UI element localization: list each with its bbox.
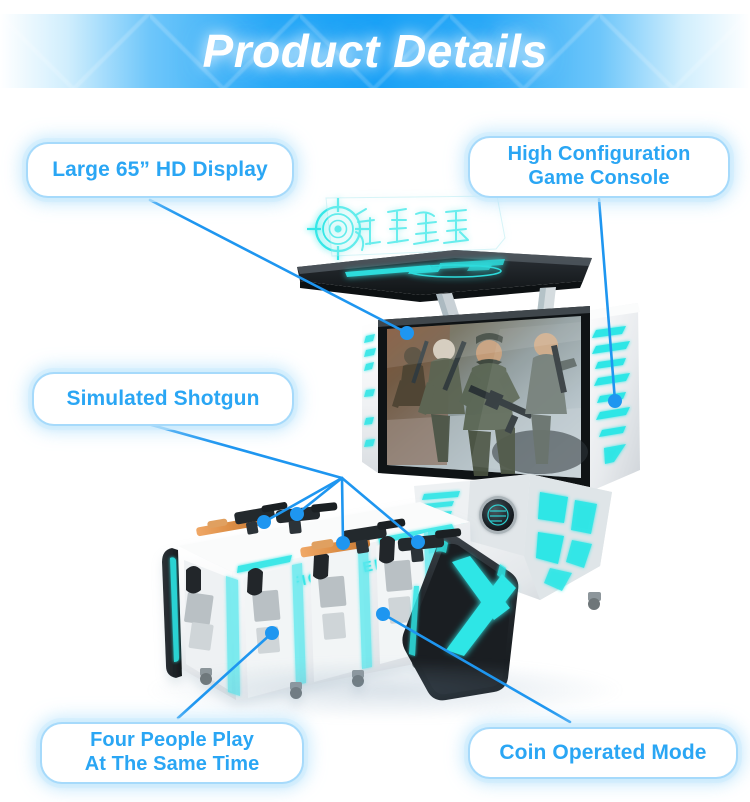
callout-label-coin: Coin Operated Mode — [499, 741, 706, 766]
display-cabinet — [362, 303, 640, 492]
callout-four-people-play[interactable]: Four People Play At The Same Time — [40, 722, 304, 784]
callout-label-fourplay: Four People Play At The Same Time — [85, 729, 260, 776]
callout-large-hd-display[interactable]: Large 65” HD Display — [26, 142, 294, 198]
speaker-dial — [479, 496, 517, 534]
product-details-infographic: Product Details — [0, 0, 750, 802]
callout-label-display: Large 65” HD Display — [52, 158, 268, 183]
callout-high-configuration-game-console[interactable]: High Configuration Game Console — [468, 136, 730, 198]
callout-simulated-shotgun[interactable]: Simulated Shotgun — [32, 372, 294, 426]
callout-label-shotgun: Simulated Shotgun — [66, 387, 259, 412]
floor-shadow — [150, 660, 620, 720]
callout-coin-operated-mode[interactable]: Coin Operated Mode — [468, 727, 738, 779]
callout-label-console: High Configuration Game Console — [508, 143, 691, 190]
marquee-sign — [307, 196, 505, 260]
caster-wheel — [588, 592, 601, 610]
